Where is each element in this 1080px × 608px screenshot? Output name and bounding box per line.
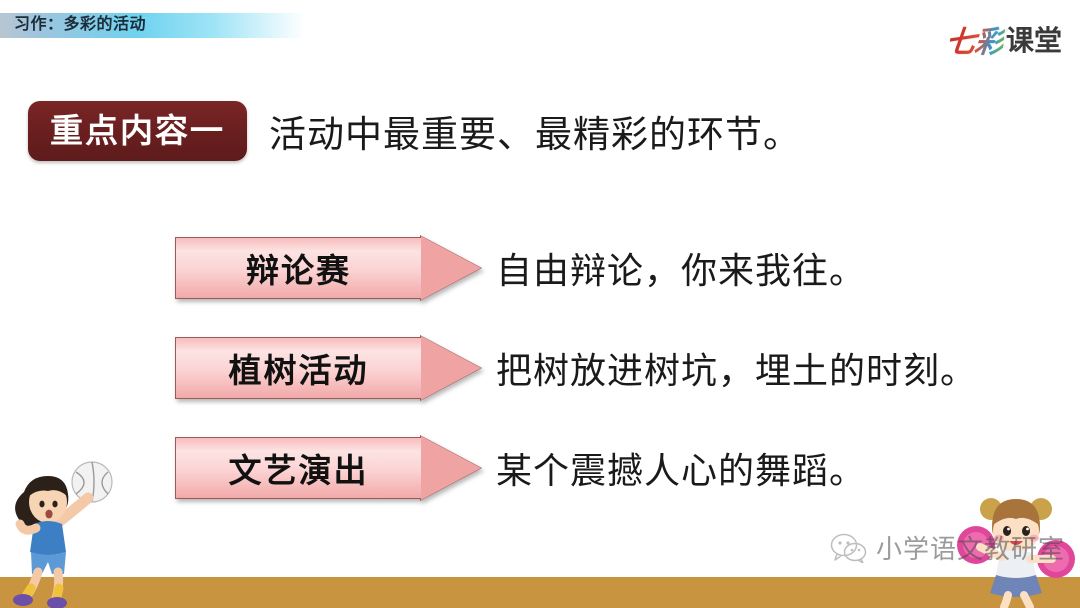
slide-canvas: 习作：多彩的活动 七彩 课堂 重点内容一 活动中最重要、最精彩的环节。 辩论赛 … bbox=[0, 0, 1080, 608]
list-item: 辩论赛 自由辩论，你来我往。 bbox=[0, 218, 1080, 318]
row-description: 某个震撼人心的舞蹈。 bbox=[496, 442, 866, 494]
arrow-head-icon bbox=[421, 336, 481, 400]
list-item: 植树活动 把树放进树坑，埋土的时刻。 bbox=[0, 318, 1080, 418]
arrow-head-icon bbox=[421, 436, 481, 500]
watermark-text: 小学语文教研室 bbox=[876, 529, 1065, 566]
row-description: 把树放进树坑，埋土的时刻。 bbox=[496, 342, 977, 394]
page-title: 活动中最重要、最精彩的环节。 bbox=[269, 104, 801, 158]
arrow-label: 植树活动 bbox=[229, 344, 369, 392]
logo-colored-text: 七彩 bbox=[944, 17, 1007, 61]
arrow-shape: 植树活动 bbox=[175, 337, 480, 399]
logo-plain-text: 课堂 bbox=[1006, 19, 1062, 59]
girl-playing-volleyball-illustration bbox=[4, 448, 124, 608]
ground-strip bbox=[0, 577, 1080, 608]
row-description: 自由辩论，你来我往。 bbox=[496, 242, 866, 294]
arrow-shape: 辩论赛 bbox=[175, 237, 480, 299]
arrow-body: 文艺演出 bbox=[175, 437, 422, 499]
list-item: 文艺演出 某个震撼人心的舞蹈。 bbox=[0, 418, 1080, 518]
badge-label: 重点内容一 bbox=[50, 114, 225, 147]
arrow-head-icon bbox=[421, 236, 481, 300]
arrow-body: 植树活动 bbox=[175, 337, 422, 399]
brand-logo: 七彩 课堂 bbox=[946, 16, 1062, 62]
breadcrumb: 习作：多彩的活动 bbox=[14, 12, 146, 37]
arrow-body: 辩论赛 bbox=[175, 237, 422, 299]
heading-row: 重点内容一 活动中最重要、最精彩的环节。 bbox=[28, 101, 801, 161]
status-badge: 重点内容一 bbox=[28, 101, 247, 161]
arrow-label: 文艺演出 bbox=[229, 444, 369, 492]
arrow-row-list: 辩论赛 自由辩论，你来我往。 植树活动 把树放进树坑，埋土的时刻。 文艺演出 bbox=[0, 218, 1080, 518]
watermark: 小学语文教研室 bbox=[830, 529, 1065, 566]
arrow-shape: 文艺演出 bbox=[175, 437, 480, 499]
arrow-label: 辩论赛 bbox=[246, 244, 351, 292]
wechat-icon bbox=[830, 533, 868, 563]
